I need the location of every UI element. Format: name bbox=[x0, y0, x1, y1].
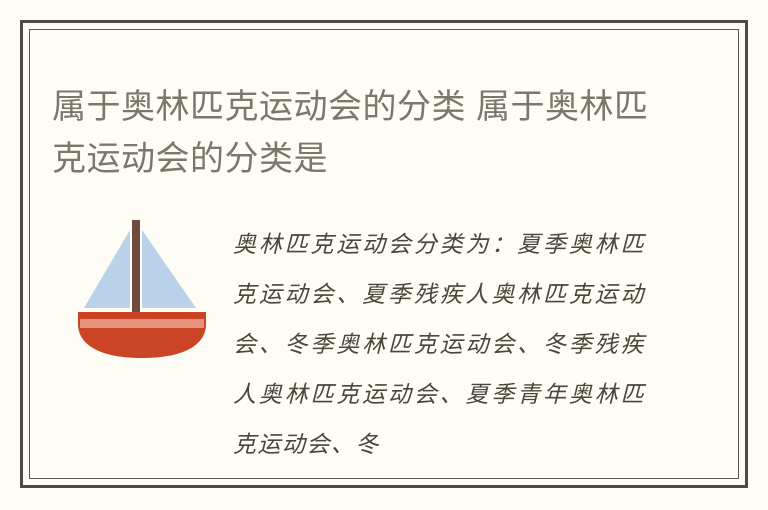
article-body-text: 奥林匹克运动会分类为：夏季奥林匹克运动会、夏季残疾人奥林匹克运动会、冬季奥林匹克… bbox=[233, 220, 645, 470]
content-area: 属于奥林匹克运动会的分类 属于奥林匹克运动会的分类是 奥林匹克运动会分类为：夏季… bbox=[30, 30, 738, 478]
page-title: 属于奥林匹克运动会的分类 属于奥林匹克运动会的分类是 bbox=[52, 81, 652, 185]
article-page: 属于奥林匹克运动会的分类 属于奥林匹克运动会的分类是 奥林匹克运动会分类为：夏季… bbox=[0, 0, 768, 510]
article-body-section: 奥林匹克运动会分类为：夏季奥林匹克运动会、夏季残疾人奥林匹克运动会、冬季奥林匹克… bbox=[30, 190, 738, 478]
sail-left-icon bbox=[84, 230, 130, 308]
hull-stripe-icon bbox=[80, 319, 204, 328]
sailboat-illustration bbox=[72, 212, 212, 362]
sail-right-icon bbox=[142, 230, 196, 308]
mast-icon bbox=[132, 220, 140, 312]
hull-icon bbox=[78, 312, 206, 358]
